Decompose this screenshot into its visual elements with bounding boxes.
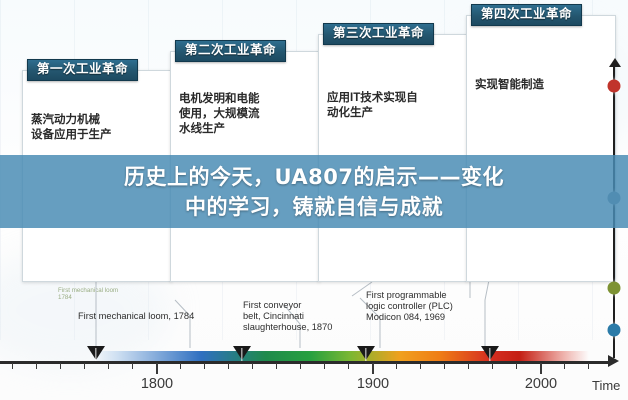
card-fourth-industrial-revolution[interactable]: 第四次工业革命 实现智能制造 — [466, 15, 616, 282]
axis-tick — [60, 363, 61, 369]
axis-tick-major-1800 — [156, 363, 158, 374]
axis-tick — [276, 363, 277, 369]
vertical-axis-dot-blue — [608, 324, 621, 337]
title-overlay-band: 历史上的今天，UA807的启示——变化 中的学习，铸就自信与成就 — [0, 155, 628, 228]
axis-label-2000: 2000 — [525, 376, 557, 392]
axis-tick — [468, 363, 469, 369]
axis-tick — [108, 363, 109, 369]
axis-tick — [84, 363, 85, 369]
axis-tick — [348, 363, 349, 369]
axis-tick — [324, 363, 325, 369]
axis-label-1900: 1900 — [357, 376, 389, 392]
axis-tick — [516, 363, 517, 369]
vertical-axis-dot-olive — [608, 282, 621, 295]
annotation-conveyor-belt: First conveyor belt, Cincinnati slaughte… — [243, 300, 343, 334]
axis-tick — [300, 363, 301, 369]
axis-tick — [228, 363, 229, 369]
axis-tick — [252, 363, 253, 369]
overlay-title-line-1: 历史上的今天，UA807的启示——变化 — [0, 162, 628, 192]
annotation-mechanical-loom: First mechanical loom, 1784 — [78, 311, 258, 322]
card-3-body: 应用IT技术实现自 动化生产 — [327, 91, 461, 121]
card-4-header: 第四次工业革命 — [471, 4, 582, 26]
axis-tick — [492, 363, 493, 369]
axis-label-time: Time — [592, 378, 620, 393]
axis-tick-major-2000 — [540, 363, 542, 374]
axis-tick — [180, 363, 181, 369]
card-1-body: 蒸汽动力机械 设备应用于生产 — [31, 113, 165, 143]
time-axis: 1800 1900 2000 Time — [0, 336, 628, 400]
axis-tick — [204, 363, 205, 369]
card-1-header: 第一次工业革命 — [27, 59, 138, 81]
infographic-canvas: First mechanical loom 1784 First product… — [0, 0, 628, 400]
card-4-body: 实现智能制造 — [475, 78, 609, 93]
axis-tick — [588, 363, 589, 369]
card-3-header: 第三次工业革命 — [323, 23, 434, 45]
axis-tick — [12, 363, 13, 369]
axis-tick — [36, 363, 37, 369]
axis-tick — [396, 363, 397, 369]
axis-label-1800: 1800 — [141, 376, 173, 392]
axis-tick — [132, 363, 133, 369]
axis-tick — [444, 363, 445, 369]
axis-tick — [420, 363, 421, 369]
axis-tick-major-1900 — [372, 363, 374, 374]
axis-tick — [564, 363, 565, 369]
overlay-title-line-2: 中的学习，铸就自信与成就 — [0, 192, 628, 222]
card-2-header: 第二次工业革命 — [175, 40, 286, 62]
time-axis-arrow — [608, 355, 619, 367]
card-2-body: 电机发明和电能 使用，大规模流 水线生产 — [179, 92, 313, 137]
overlay-title: 历史上的今天，UA807的启示——变化 中的学习，铸就自信与成就 — [0, 162, 628, 222]
annotation-plc: First programmable logic controller (PLC… — [366, 290, 486, 324]
vertical-axis-dot-red — [608, 80, 621, 93]
time-axis-line — [0, 361, 612, 364]
